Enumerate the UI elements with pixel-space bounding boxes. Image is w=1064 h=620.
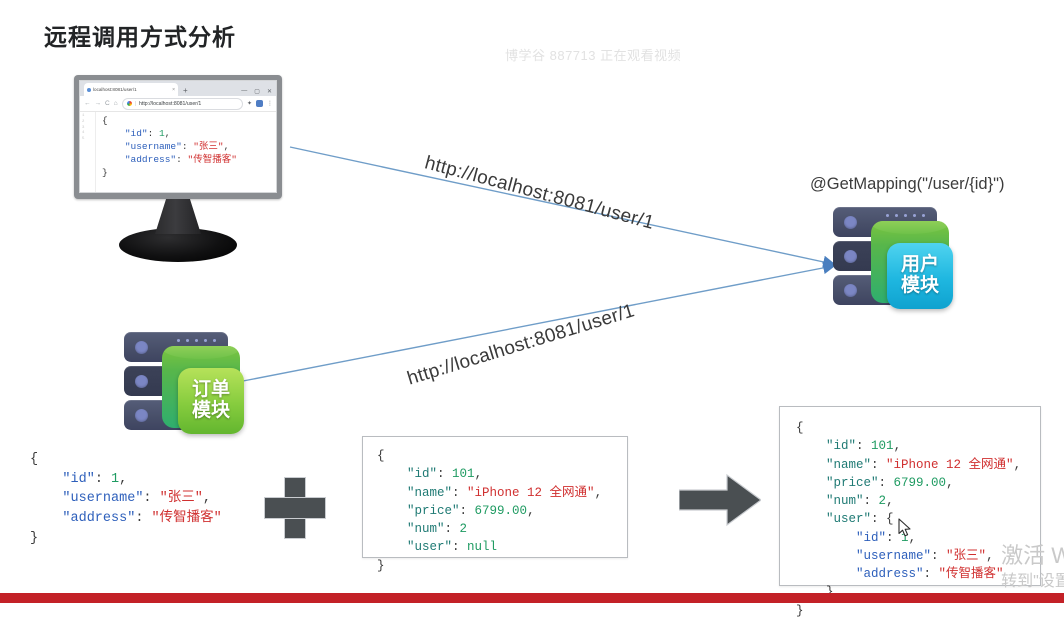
key-price: "price" [826, 476, 879, 490]
mouse-cursor-icon [898, 518, 912, 538]
led-icon [135, 375, 148, 388]
led-icon [844, 284, 857, 297]
json-value-address: "传智播客" [188, 154, 237, 165]
value-id: 101 [452, 467, 475, 481]
key-price: "price" [407, 504, 460, 518]
value-price: 6799.00 [475, 504, 528, 518]
result-arrow-icon [679, 473, 761, 527]
nested-value-username: "张三" [946, 549, 986, 563]
brace-close: } [377, 559, 385, 573]
value-address: "传智播客" [152, 511, 222, 526]
order-module-label-line2: 模块 [192, 401, 230, 422]
key-address: "address" [62, 511, 135, 526]
order-module-badge: 订单 模块 [178, 368, 244, 434]
value-username: "张三" [160, 491, 203, 506]
brace-open: { [30, 452, 38, 467]
plus-icon [264, 477, 324, 537]
value-num: 2 [879, 494, 887, 508]
json-key-username: "username" [125, 141, 182, 152]
browser-window: localhost:8081/user/1 × + — ▢ ✕ ← → C ⌂ [79, 80, 277, 193]
avatar[interactable] [256, 100, 263, 107]
forward-icon[interactable]: → [95, 100, 102, 107]
client-monitor: localhost:8081/user/1 × + — ▢ ✕ ← → C ⌂ [74, 75, 282, 262]
comma: , [946, 476, 954, 490]
home-icon[interactable]: ⌂ [114, 100, 118, 107]
node-order-module[interactable]: 订单 模块 [124, 332, 228, 434]
new-tab-icon[interactable]: + [183, 86, 188, 95]
windows-activation-watermark: 激活 W 转到"设置 [1001, 541, 1064, 592]
brace-close: } [30, 531, 38, 546]
comma: , [203, 491, 211, 506]
address-bar-url: http://localhost:8081/user/1 [139, 101, 201, 107]
json-comma: , [224, 141, 230, 152]
value-name: "iPhone 12 全网通" [886, 458, 1014, 472]
nested-key-address: "address" [856, 567, 924, 581]
comma: , [595, 486, 603, 500]
urlbar-actions: ✦ ⋮ [247, 100, 272, 107]
comma: , [986, 549, 994, 563]
order-module-label-line1: 订单 [192, 380, 230, 401]
edge-label-order-to-user: http://localhost:8081/user/1 [405, 300, 638, 390]
comma: , [119, 472, 127, 487]
comma: , [1014, 458, 1022, 472]
nested-key-username: "username" [856, 549, 931, 563]
window-controls: — ▢ ✕ [241, 88, 276, 95]
activation-line-1: 激活 W [1001, 541, 1064, 571]
led-icon [135, 409, 148, 422]
nested-value-address: "传智播客" [939, 567, 1004, 581]
brace-close: } [796, 604, 804, 618]
json-key-address: "address" [125, 154, 176, 165]
json-brace-close: } [102, 167, 108, 178]
json-colon: : [176, 154, 187, 165]
comma: , [894, 439, 902, 453]
comma: , [527, 504, 535, 518]
key-num: "num" [407, 522, 445, 536]
minimize-icon[interactable]: — [241, 88, 247, 95]
user-module-label-line1: 用户 [901, 255, 939, 276]
key-name: "name" [826, 458, 871, 472]
nested-brace-open: { [886, 512, 894, 526]
key-id: "id" [826, 439, 856, 453]
json-colon: : [148, 128, 159, 139]
user-module-badge-group: 用户 模块 [871, 221, 949, 303]
key-name: "name" [407, 486, 452, 500]
cylinder-top [871, 221, 949, 234]
key-id: "id" [62, 472, 94, 487]
reload-icon[interactable]: C [105, 100, 110, 107]
json-value-username: "张三" [193, 141, 223, 152]
key-username: "username" [62, 491, 143, 506]
json-user-snippet: { "id": 1, "username": "张三", "address": … [30, 450, 222, 549]
json-key-id: "id" [125, 128, 148, 139]
browser-tab-title: localhost:8081/user/1 [93, 87, 137, 92]
key-id: "id" [407, 467, 437, 481]
favicon-icon [87, 88, 91, 92]
maximize-icon[interactable]: ▢ [254, 88, 260, 95]
line-number-gutter: 1 2 3 4 5 [80, 112, 96, 193]
json-brace-open: { [102, 115, 108, 126]
led-icon [844, 250, 857, 263]
browser-tab[interactable]: localhost:8081/user/1 × [84, 83, 178, 96]
brace-open: { [796, 421, 804, 435]
back-icon[interactable]: ← [84, 100, 91, 107]
window-close-icon[interactable]: ✕ [267, 88, 272, 95]
value-num: 2 [460, 522, 468, 536]
value-name: "iPhone 12 全网通" [467, 486, 595, 500]
page-title: 远程调用方式分析 [44, 18, 236, 52]
key-user: "user" [826, 512, 871, 526]
extensions-icon[interactable]: ✦ [247, 100, 252, 107]
viewer-watermark: 博学谷 887713 正在观看视频 [505, 45, 681, 64]
bottom-accent-bar [0, 593, 1064, 603]
address-bar[interactable]: | http://localhost:8081/user/1 [122, 98, 243, 110]
edge-order-to-user [243, 266, 833, 381]
monitor-bezel: localhost:8081/user/1 × + — ▢ ✕ ← → C ⌂ [74, 75, 282, 199]
getmapping-annotation: @GetMapping("/user/{id}") [810, 175, 1004, 194]
nested-key-id: "id" [856, 531, 886, 545]
led-icon [844, 216, 857, 229]
user-module-label-line2: 模块 [901, 276, 939, 297]
browser-urlbar: ← → C ⌂ | http://localhost:8081/user/1 ✦… [80, 96, 276, 112]
activation-line-2: 转到"设置 [1001, 571, 1064, 593]
json-order-box: { "id": 101, "name": "iPhone 12 全网通", "p… [362, 436, 628, 558]
json-colon: : [182, 141, 193, 152]
browser-tabbar: localhost:8081/user/1 × + — ▢ ✕ [80, 81, 276, 96]
node-user-module[interactable]: 用户 模块 [833, 207, 937, 309]
json-comma: , [165, 128, 171, 139]
brace-open: { [377, 449, 385, 463]
edge-label-browser-to-user: http://localhost:8081/user/1 [422, 152, 656, 234]
key-num: "num" [826, 494, 864, 508]
browser-content: 1 2 3 4 5 { "id": 1, "username": "张三", "… [80, 112, 276, 193]
order-module-badge-group: 订单 模块 [162, 346, 240, 428]
value-user: null [467, 540, 497, 554]
kebab-menu-icon[interactable]: ⋮ [267, 100, 272, 107]
comma: , [475, 467, 483, 481]
comma: , [886, 494, 894, 508]
user-module-badge: 用户 模块 [887, 243, 953, 309]
value-id: 101 [871, 439, 894, 453]
key-user: "user" [407, 540, 452, 554]
site-identity-icon [127, 101, 132, 106]
diagram-canvas: 远程调用方式分析 博学谷 887713 正在观看视频 localhost:808… [0, 0, 1064, 603]
led-icon [135, 341, 148, 354]
value-id: 1 [111, 472, 119, 487]
browser-json-response: { "id": 1, "username": "张三", "address": … [96, 112, 276, 193]
value-price: 6799.00 [894, 476, 947, 490]
monitor-neck [155, 199, 201, 234]
close-icon[interactable]: × [172, 87, 175, 93]
url-separator: | [135, 101, 136, 107]
cylinder-top [162, 346, 240, 359]
